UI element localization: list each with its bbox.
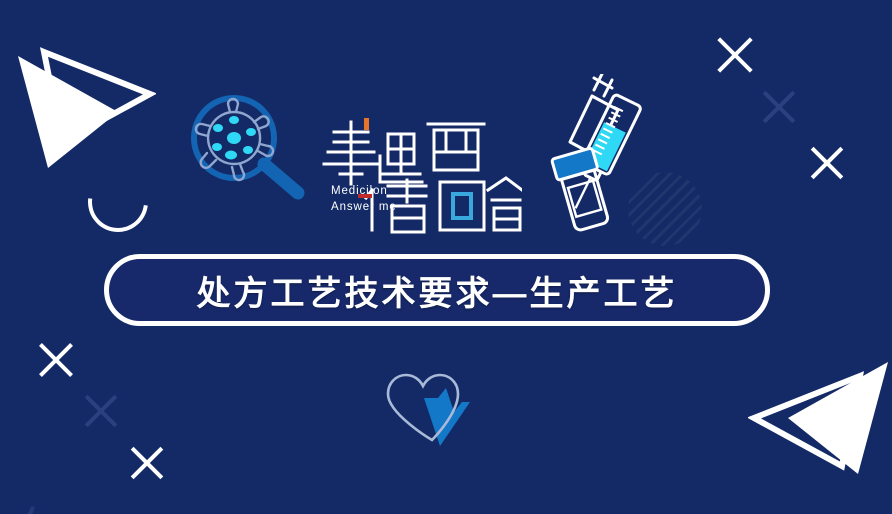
logo-orange-accent (364, 118, 369, 130)
cross-icon-top-right-1 (712, 32, 758, 78)
brand-logo-english: Medicilon Answer me (331, 184, 397, 215)
brand-en-line2: Answer me (331, 200, 397, 216)
syringe-vial-icon (546, 74, 664, 236)
logo-cyan-accent (453, 194, 471, 218)
brand-logo: Medicilon Answer me (322, 112, 522, 237)
cross-icon-bottom-left-1 (34, 338, 78, 382)
cross-icon-top-right-2 (758, 86, 800, 128)
page-title: 处方工艺技术要求—生产工艺 (197, 266, 678, 315)
brand-en-line1: Medicilon (331, 184, 397, 200)
triangle-solid-bottom-right (780, 358, 892, 478)
cross-icon-bottom-left-3 (126, 442, 168, 484)
cross-icon-top-right-3 (806, 142, 848, 184)
arc-bottom-left (0, 457, 47, 514)
triangle-solid-top-left (14, 52, 126, 172)
magnifier-virus-icon (186, 92, 308, 200)
heart-pulse-icon (382, 372, 486, 450)
slide-canvas: Medicilon Answer me 处方工艺技术要求—生产工艺 (0, 0, 892, 514)
cross-icon-bottom-left-2 (80, 390, 122, 432)
brand-logo-glyphs (322, 112, 522, 237)
arc-top-left (76, 160, 160, 244)
title-pill: 处方工艺技术要求—生产工艺 (104, 254, 770, 326)
